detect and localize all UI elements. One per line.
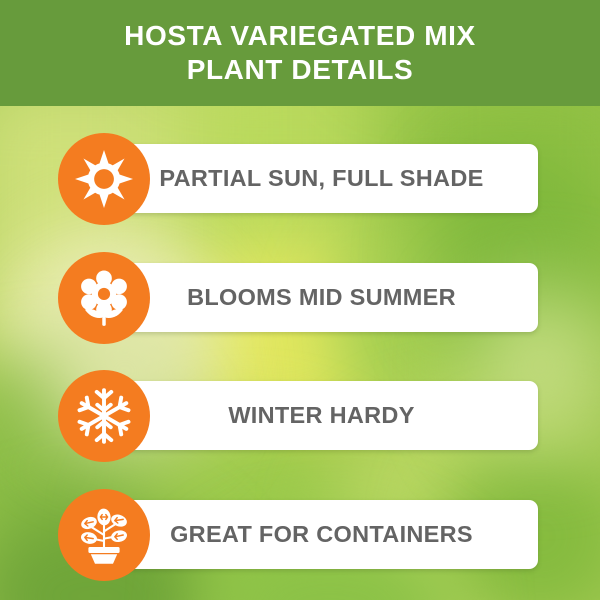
page-title-line-2: PLANT DETAILS	[187, 53, 414, 87]
detail-row-containers: GREAT FOR CONTAINERS	[0, 489, 600, 581]
header-banner: HOSTA VARIEGATED MIX PLANT DETAILS	[0, 0, 600, 106]
detail-label-flower: BLOOMS MID SUMMER	[187, 284, 456, 311]
sun-icon	[75, 150, 133, 208]
detail-bar-sun: PARTIAL SUN, FULL SHADE	[105, 144, 538, 213]
detail-bar-snowflake: WINTER HARDY	[105, 381, 538, 450]
icon-badge-snowflake	[58, 370, 150, 462]
detail-label-snowflake: WINTER HARDY	[228, 402, 414, 429]
icon-badge-sun	[58, 133, 150, 225]
icon-badge-potted-plant	[58, 489, 150, 581]
detail-row-sun: PARTIAL SUN, FULL SHADE	[0, 133, 600, 225]
flower-icon	[75, 269, 133, 327]
icon-badge-flower	[58, 252, 150, 344]
page-title-line-1: HOSTA VARIEGATED MIX	[124, 19, 476, 53]
potted-plant-icon	[74, 505, 134, 565]
detail-row-snowflake: WINTER HARDY	[0, 370, 600, 462]
detail-label-containers: GREAT FOR CONTAINERS	[170, 521, 473, 548]
snowflake-icon	[76, 388, 132, 444]
detail-row-flower: BLOOMS MID SUMMER	[0, 252, 600, 344]
detail-bar-containers: GREAT FOR CONTAINERS	[105, 500, 538, 569]
detail-bar-flower: BLOOMS MID SUMMER	[105, 263, 538, 332]
plant-details-infographic: HOSTA VARIEGATED MIX PLANT DETAILS PARTI…	[0, 0, 600, 600]
detail-label-sun: PARTIAL SUN, FULL SHADE	[159, 165, 483, 192]
